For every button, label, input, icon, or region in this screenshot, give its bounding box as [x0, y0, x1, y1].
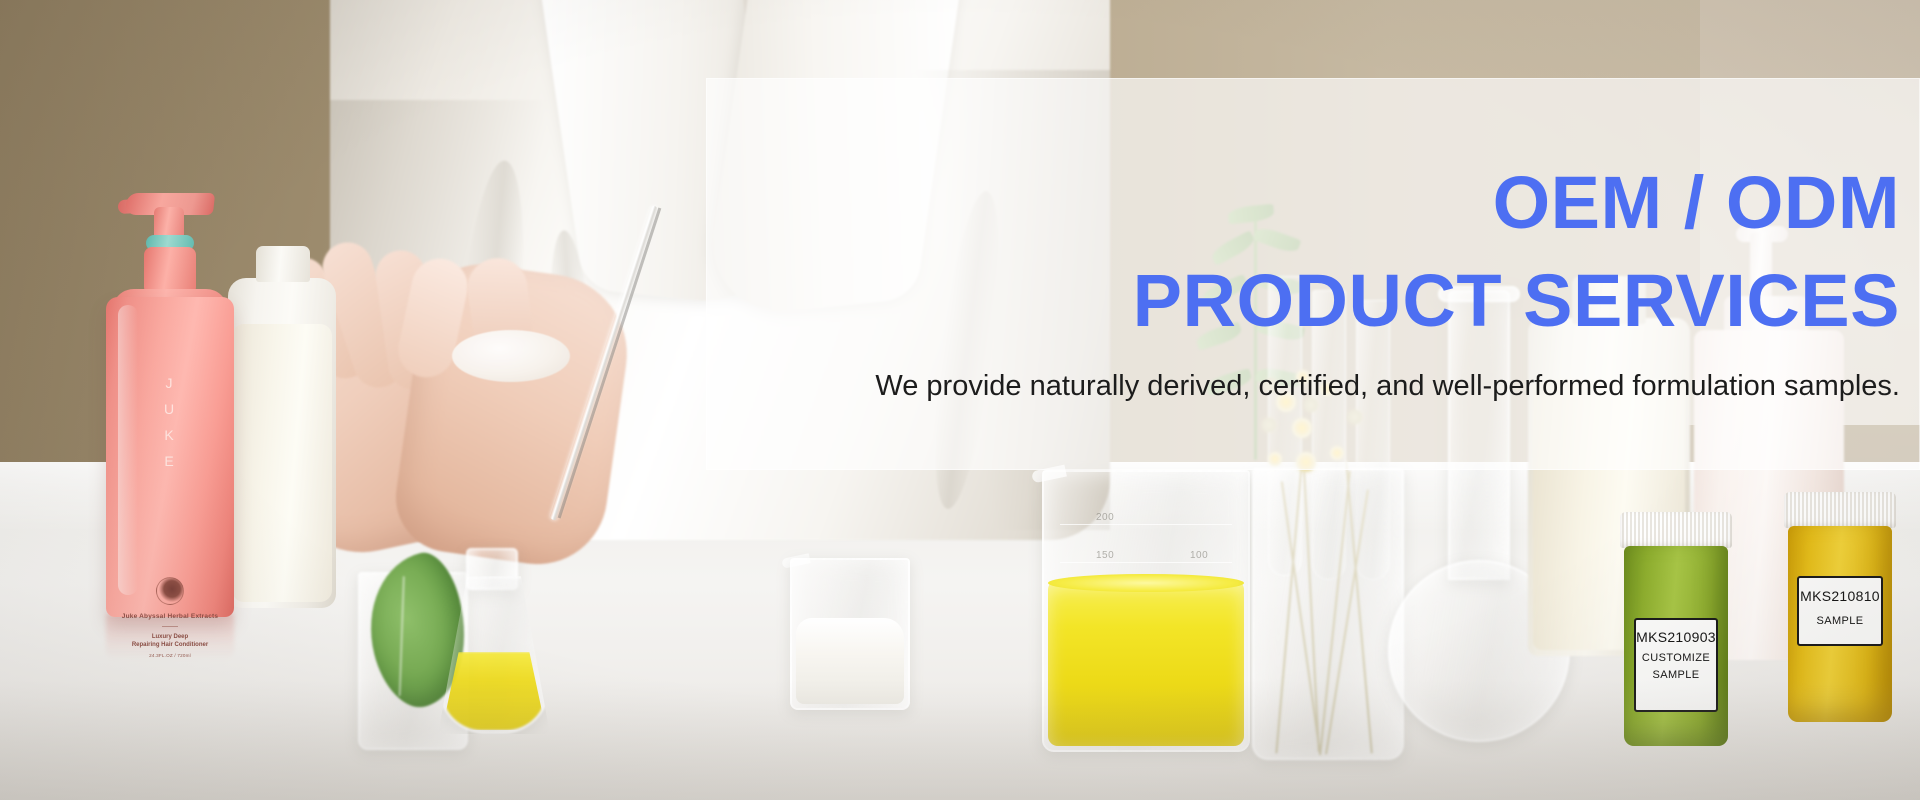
bottle-cap — [256, 246, 310, 282]
brand-letter-u: U — [106, 396, 234, 422]
large-beaker-liquid-surface — [1048, 574, 1244, 592]
jar-label-line2: SAMPLE — [1799, 615, 1881, 627]
label-divider — [162, 626, 178, 627]
beaker-graduation-line — [1060, 562, 1232, 563]
page-title: OEM / ODM PRODUCT SERVICES — [706, 154, 1900, 350]
jar-code: MKS210810 — [1799, 588, 1881, 604]
beaker-marking-200: 200 — [1096, 512, 1114, 523]
pump-collar — [144, 247, 196, 295]
leaf-vein — [399, 576, 405, 696]
product-volume: 24.3FL.OZ / 720ml — [106, 653, 234, 658]
product-description: Luxury DeepRepairing Hair Conditioner — [106, 633, 234, 649]
brand-wordmark: J U K E — [106, 370, 234, 474]
jar-code: MKS210903 — [1636, 629, 1716, 645]
jar-label-yellow: MKS210810 SAMPLE — [1797, 576, 1883, 646]
bottle-liquid — [232, 324, 332, 602]
cream-sample-on-hand — [452, 330, 570, 382]
page-subtitle: We provide naturally derived, certified,… — [760, 363, 1900, 409]
jar-cap — [1784, 492, 1896, 528]
beaker-marking-150: 150 — [1096, 550, 1114, 561]
jar-cap — [1620, 512, 1732, 548]
product-desc-line1: Luxury Deep — [152, 634, 188, 640]
white-sample-bottle — [228, 278, 336, 608]
brand-emblem-icon — [156, 577, 184, 605]
product-desc-line2: Repairing Hair Conditioner — [132, 642, 208, 648]
juke-pump-bottle: J U K E Juke Abyssal Herbal Extracts Lux… — [106, 185, 234, 617]
brand-letter-e: E — [106, 448, 234, 474]
beaker-marking-100: 100 — [1190, 550, 1208, 561]
jar-label-line2: CUSTOMIZE — [1636, 652, 1716, 664]
table-foreground-shadow — [0, 680, 1920, 800]
hero-banner: J U K E Juke Abyssal Herbal Extracts Lux… — [0, 0, 1920, 800]
brand-letter-k: K — [106, 422, 234, 448]
brand-letter-j: J — [106, 370, 234, 396]
product-range-name: Juke Abyssal Herbal Extracts — [106, 613, 234, 620]
beaker-graduation-line — [1060, 524, 1232, 525]
